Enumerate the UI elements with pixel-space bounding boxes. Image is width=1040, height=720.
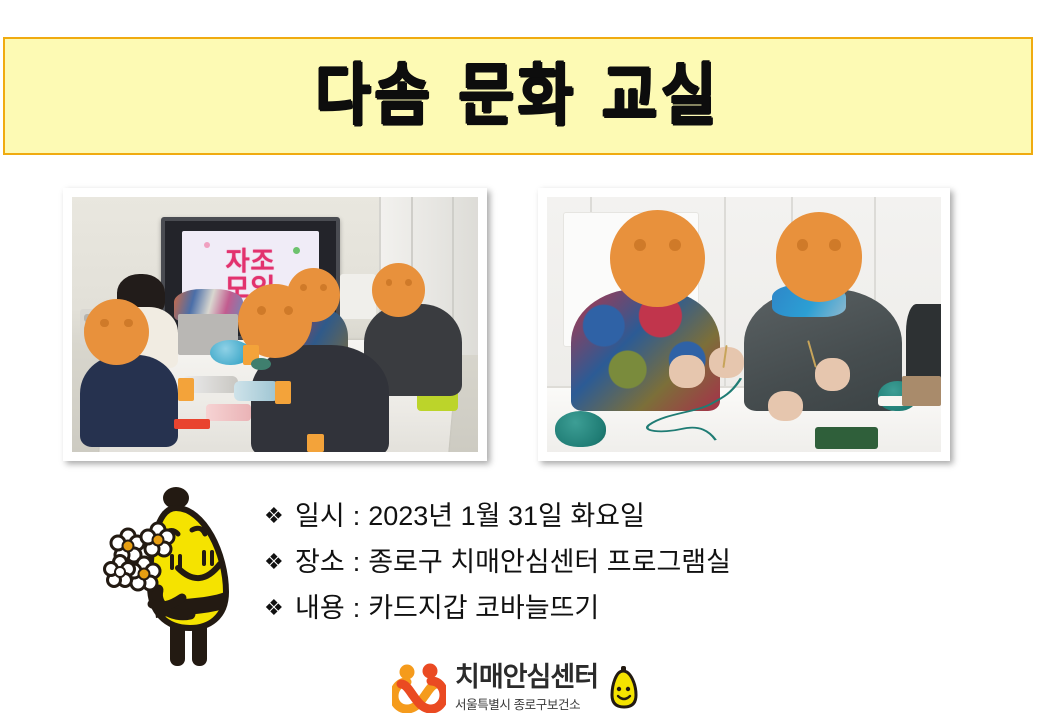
smiley-eye-left [100, 319, 108, 328]
smiley-eye-left [386, 279, 393, 286]
face-mask-right [776, 212, 863, 301]
orange-pack-1 [178, 378, 194, 401]
face-mask-left [610, 210, 705, 307]
smiley-mouth [793, 252, 845, 284]
detail-label-content: 내용 [295, 592, 345, 626]
list-item: ❖ 장소 : 종로구 치매안심센터 프로그램실 [264, 546, 964, 580]
orange-pack-4 [307, 434, 323, 452]
craft-bundle-2 [234, 381, 279, 401]
list-item: ❖ 일시 : 2023년 1월 31일 화요일 [264, 500, 964, 534]
smiley-eye-left [300, 284, 307, 291]
smiley-mouth [629, 252, 686, 287]
face-mask-3 [372, 263, 425, 317]
screen-deco-2 [293, 247, 300, 254]
bullet-diamond-icon: ❖ [264, 546, 295, 578]
smiley-eye-right [124, 319, 132, 328]
page-title: 다솜 문화 교실 [316, 62, 721, 129]
face-mask-1 [84, 299, 149, 365]
detail-label-date: 일시 [295, 500, 345, 534]
event-details-list: ❖ 일시 : 2023년 1월 31일 화요일 ❖ 장소 : 종로구 치매안심센… [264, 500, 964, 637]
smiley-eye-right [284, 306, 294, 316]
green-fabric [815, 427, 878, 450]
person-navy-body [80, 355, 177, 447]
smiley-mouth [97, 328, 136, 352]
orange-pack-2 [275, 381, 291, 404]
list-item: ❖ 내용 : 카드지갑 코바늘뜨기 [264, 592, 964, 626]
smiley-mouth [253, 316, 297, 343]
photo-classroom-group: 자조 모임 [63, 188, 487, 461]
yarn-ball-teal-left [555, 411, 606, 447]
detail-value-date: 2023년 1월 31일 화요일 [368, 500, 645, 534]
detail-separator: : [345, 546, 369, 580]
dasom-grandmother-mascot [92, 472, 264, 672]
photo-crochet-pair-image [547, 197, 941, 452]
footer-logo: 치매안심센터 서울특별시 종로구보건소 [392, 660, 652, 716]
logo-wordmark: 치매안심센터 서울특별시 종로구보건소 [455, 663, 598, 712]
center-symbol-icon [392, 663, 446, 713]
mascot-illustration [92, 472, 264, 672]
smiley-mouth [383, 287, 415, 306]
hand-right-person-a [815, 358, 850, 391]
bullet-diamond-icon: ❖ [264, 592, 295, 624]
detail-separator: : [345, 592, 369, 626]
red-pouch [174, 419, 211, 429]
footer-mascot-icon [607, 665, 641, 711]
smiley-eye-right [405, 279, 412, 286]
hand-right-person-b [768, 391, 803, 422]
logo-title: 치매안심센터 [455, 663, 598, 691]
detail-label-place: 장소 [295, 546, 345, 580]
craft-bundle-3 [206, 404, 251, 422]
title-banner: 다솜 문화 교실 [3, 37, 1033, 155]
woven-pouch [902, 376, 941, 407]
smiley-eye-left [257, 306, 267, 316]
side-board [340, 274, 377, 320]
screen-deco-1 [204, 242, 210, 248]
logo-subtitle: 서울특별시 종로구보건소 [455, 694, 598, 713]
detail-value-place: 종로구 치매안심센터 프로그램실 [368, 546, 731, 580]
smiley-eye-left [634, 239, 646, 252]
smiley-eye-left [797, 239, 808, 251]
bullet-diamond-icon: ❖ [264, 500, 295, 532]
smiley-eye-right [320, 284, 327, 291]
photo-classroom-group-image: 자조 모임 [72, 197, 478, 452]
detail-separator: : [345, 500, 369, 534]
smiley-eye-right [669, 239, 681, 252]
smiley-eye-right [829, 239, 840, 251]
screen-title-line-1: 자조 [226, 250, 276, 275]
detail-value-content: 카드지갑 코바늘뜨기 [368, 592, 599, 626]
photo-crochet-pair [538, 188, 950, 461]
